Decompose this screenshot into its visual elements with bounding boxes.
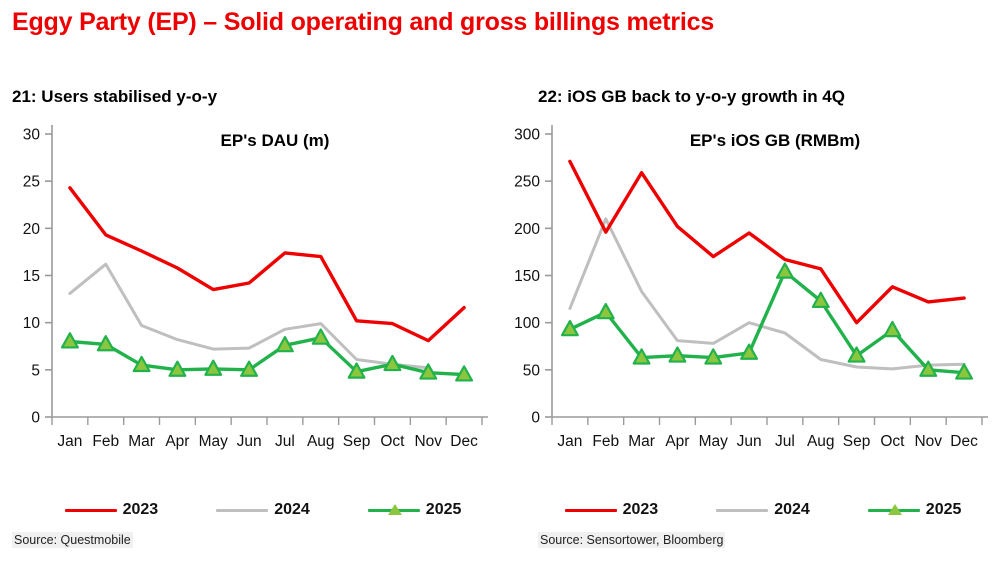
y-tick-label: 10 bbox=[23, 315, 41, 332]
y-tick-label: 150 bbox=[514, 268, 540, 285]
x-tick-label: Jan bbox=[57, 433, 82, 450]
legend-label: 2023 bbox=[123, 501, 159, 519]
legend-label: 2025 bbox=[926, 501, 962, 519]
x-tick-label: Nov bbox=[914, 433, 942, 450]
legend-triangle-icon bbox=[388, 504, 402, 515]
x-tick-label: Nov bbox=[414, 433, 442, 450]
x-tick-label: Mar bbox=[628, 433, 655, 450]
data-point-marker bbox=[885, 322, 901, 336]
x-tick-label: Jul bbox=[775, 433, 795, 450]
chart-legend-left: 202320242025 bbox=[0, 495, 500, 525]
legend-swatch-2023 bbox=[65, 502, 117, 518]
data-point-marker bbox=[134, 357, 150, 371]
legend-swatch-2025 bbox=[368, 502, 420, 518]
x-tick-label: Jun bbox=[237, 433, 262, 450]
series-line-2024 bbox=[70, 264, 428, 368]
x-tick-label: Sep bbox=[343, 433, 371, 450]
y-tick-label: 250 bbox=[514, 174, 540, 191]
legend-swatch-2025 bbox=[868, 502, 920, 518]
x-tick-label: Oct bbox=[380, 433, 405, 450]
source-note-left: Source: Questmobile bbox=[12, 532, 133, 548]
page-title: Eggy Party (EP) – Solid operating and gr… bbox=[12, 8, 714, 37]
legend-swatch-2023 bbox=[565, 502, 617, 518]
data-point-marker bbox=[313, 330, 329, 344]
x-tick-label: Aug bbox=[307, 433, 335, 450]
legend-item-2024[interactable]: 2024 bbox=[716, 501, 810, 519]
chart-inner-title: EP's iOS GB (RMBm) bbox=[690, 131, 860, 150]
legend-swatch-2024 bbox=[216, 502, 268, 518]
y-tick-label: 200 bbox=[514, 221, 540, 238]
panel-title-left: 21: Users stabilised y-o-y bbox=[12, 87, 217, 107]
chart-area-left: EP's DAU (m)051015202530JanFebMarAprMayJ… bbox=[0, 112, 500, 472]
legend-label: 2025 bbox=[426, 501, 462, 519]
x-tick-label: May bbox=[199, 433, 229, 450]
legend-triangle-icon bbox=[888, 504, 902, 515]
x-tick-label: Apr bbox=[665, 433, 689, 450]
x-tick-label: Sep bbox=[843, 433, 871, 450]
legend-swatch-2024 bbox=[716, 502, 768, 518]
x-tick-label: Aug bbox=[807, 433, 835, 450]
line-chart-dau: EP's DAU (m)051015202530JanFebMarAprMayJ… bbox=[0, 112, 500, 472]
x-tick-label: Feb bbox=[92, 433, 119, 450]
series-line-2025 bbox=[570, 272, 964, 373]
y-tick-label: 50 bbox=[523, 362, 541, 379]
y-tick-label: 100 bbox=[514, 315, 540, 332]
x-tick-label: May bbox=[699, 433, 729, 450]
y-tick-label: 15 bbox=[23, 268, 40, 285]
data-point-marker bbox=[741, 345, 757, 359]
y-tick-label: 300 bbox=[514, 127, 540, 144]
x-tick-label: Oct bbox=[880, 433, 905, 450]
chart-legend-right: 202320242025 bbox=[500, 495, 1000, 525]
chart-panel-left: 21: Users stabilised y-o-y EP's DAU (m)0… bbox=[0, 80, 500, 550]
series-line-2025 bbox=[70, 338, 464, 375]
chart-area-right: EP's iOS GB (RMBm)050100150200250300JanF… bbox=[500, 112, 1000, 472]
chart-panel-right: 22: iOS GB back to y-o-y growth in 4Q EP… bbox=[500, 80, 1000, 550]
y-tick-label: 5 bbox=[31, 362, 40, 379]
legend-item-2023[interactable]: 2023 bbox=[565, 501, 659, 519]
line-chart-iosgb: EP's iOS GB (RMBm)050100150200250300JanF… bbox=[500, 112, 1000, 472]
y-tick-label: 0 bbox=[31, 410, 40, 427]
series-line-2023 bbox=[570, 161, 964, 322]
y-tick-label: 30 bbox=[23, 127, 41, 144]
slide-page: Eggy Party (EP) – Solid operating and gr… bbox=[0, 0, 1000, 561]
chart-inner-title: EP's DAU (m) bbox=[221, 131, 330, 150]
x-tick-label: Jan bbox=[557, 433, 582, 450]
x-tick-label: Feb bbox=[592, 433, 619, 450]
x-tick-label: Dec bbox=[950, 433, 978, 450]
legend-item-2025[interactable]: 2025 bbox=[868, 501, 962, 519]
y-tick-label: 20 bbox=[23, 221, 41, 238]
x-tick-label: Apr bbox=[165, 433, 189, 450]
y-tick-label: 25 bbox=[23, 174, 40, 191]
legend-label: 2023 bbox=[623, 501, 659, 519]
y-tick-label: 0 bbox=[531, 410, 540, 427]
legend-label: 2024 bbox=[774, 501, 810, 519]
data-point-marker bbox=[598, 304, 614, 318]
data-point-marker bbox=[777, 264, 793, 278]
x-tick-label: Dec bbox=[450, 433, 478, 450]
panel-title-right: 22: iOS GB back to y-o-y growth in 4Q bbox=[538, 87, 845, 107]
x-tick-label: Mar bbox=[128, 433, 155, 450]
legend-item-2024[interactable]: 2024 bbox=[216, 501, 310, 519]
x-tick-label: Jun bbox=[737, 433, 762, 450]
legend-item-2025[interactable]: 2025 bbox=[368, 501, 462, 519]
legend-item-2023[interactable]: 2023 bbox=[65, 501, 159, 519]
legend-label: 2024 bbox=[274, 501, 310, 519]
series-line-2023 bbox=[70, 188, 464, 341]
source-note-right: Source: Sensortower, Bloomberg bbox=[538, 532, 725, 548]
x-tick-label: Jul bbox=[275, 433, 295, 450]
